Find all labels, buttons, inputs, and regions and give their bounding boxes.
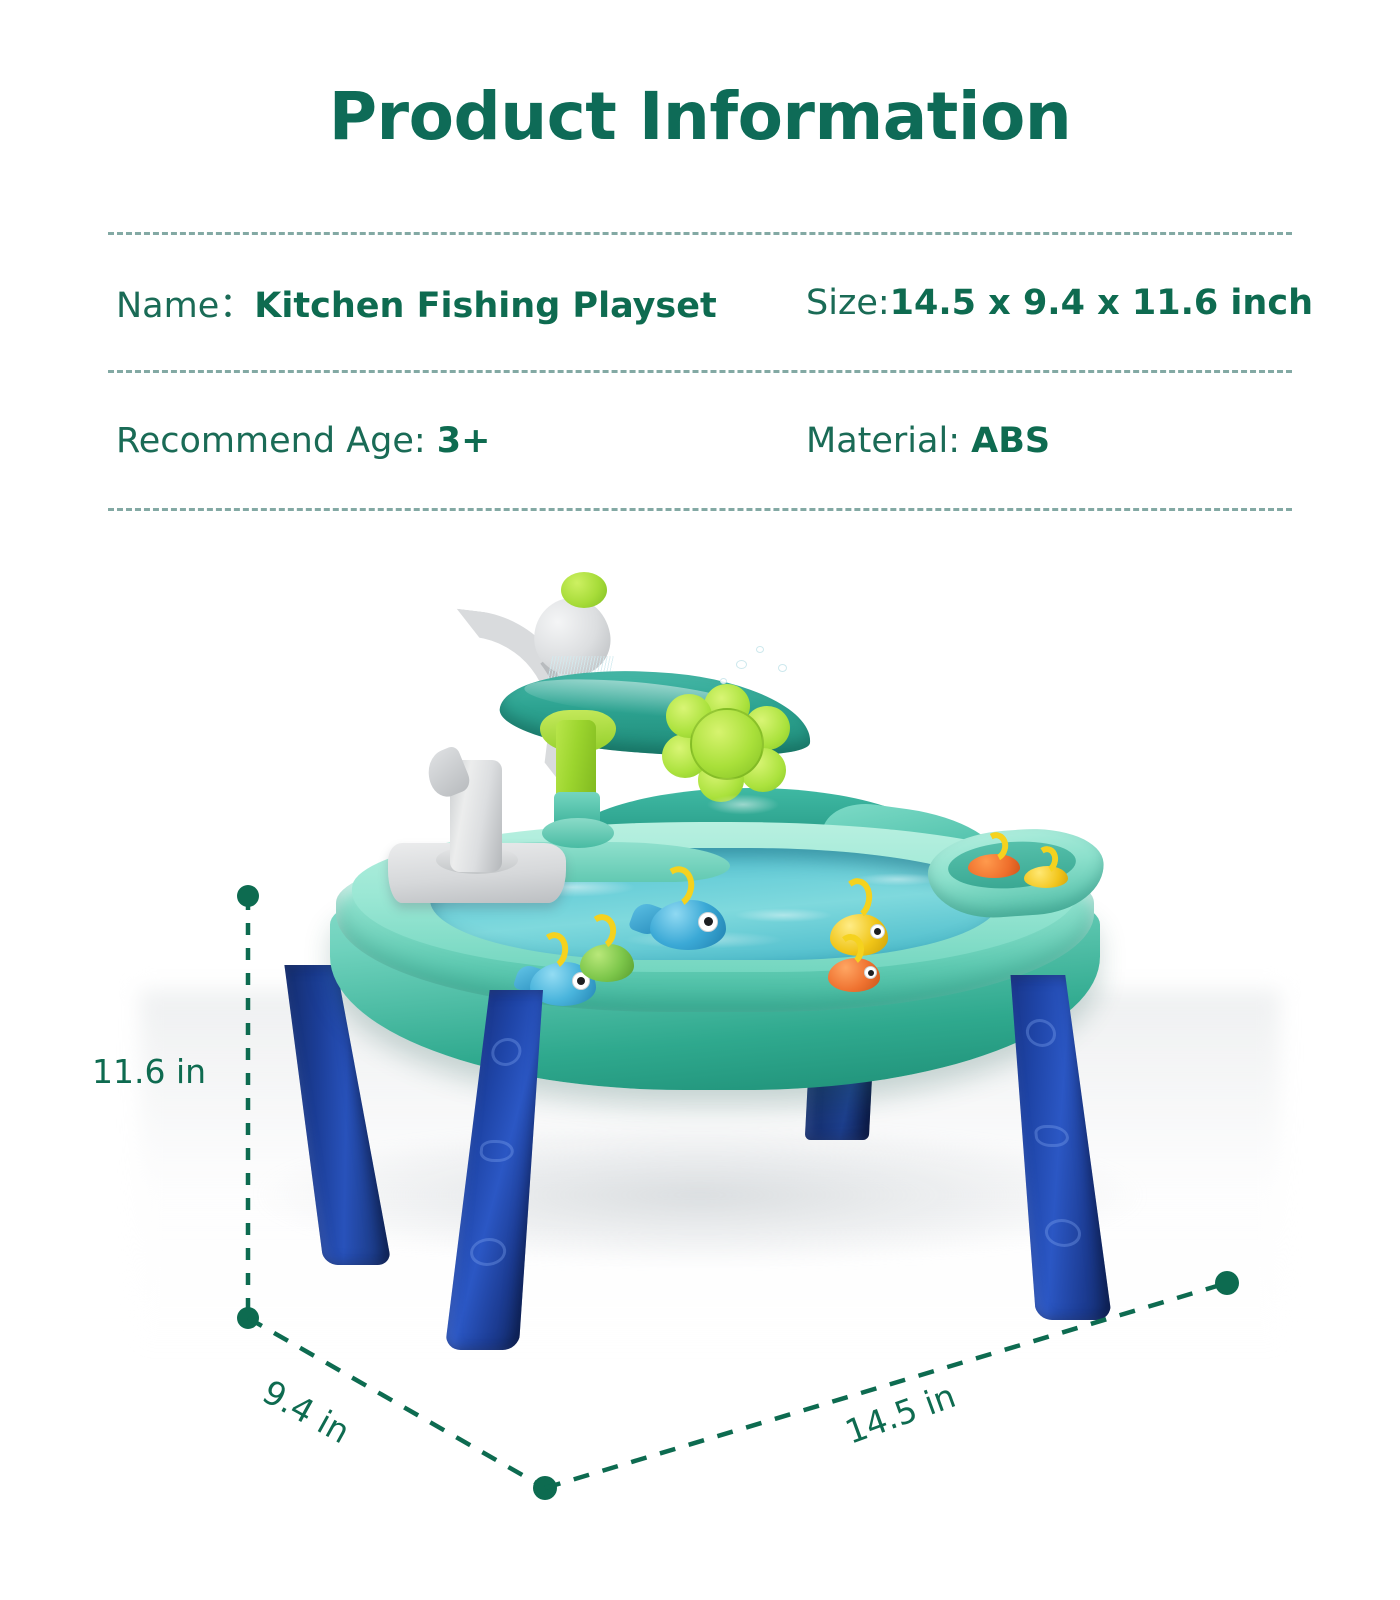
spec-value-name: Kitchen Fishing Playset	[254, 286, 716, 326]
fish-tray-yellow	[1024, 856, 1072, 888]
divider-bottom	[108, 508, 1292, 511]
fish-pupil	[868, 970, 874, 976]
spec-cell-material: Material: ABS	[798, 421, 1292, 461]
leg-emboss-turtle	[1044, 1219, 1083, 1247]
shower-knob[interactable]	[561, 572, 607, 608]
fish-blue-large	[636, 882, 732, 952]
spec-cell-size: Size: 14.5 x 9.4 x 11.6 inch	[798, 283, 1292, 323]
leg-emboss-clover	[1024, 1019, 1057, 1047]
fish-tray-orange	[968, 844, 1022, 878]
droplet	[720, 678, 727, 684]
leg-emboss-clover	[490, 1038, 523, 1066]
wheel-splash	[618, 706, 868, 818]
droplet	[778, 664, 787, 672]
leg-emboss-swirl	[1034, 1125, 1070, 1147]
spec-table: Name： Kitchen Fishing Playset Size: 14.5…	[108, 232, 1292, 511]
ground-shadow	[260, 1125, 1140, 1265]
droplet	[736, 660, 747, 669]
spec-value-size: 14.5 x 9.4 x 11.6 inch	[890, 283, 1313, 323]
fish-green	[572, 928, 642, 984]
spec-cell-name: Name： Kitchen Fishing Playset	[108, 277, 798, 328]
droplet	[756, 646, 764, 653]
fish-pupil	[704, 917, 713, 926]
spec-label-name: Name：	[116, 277, 254, 328]
leg-emboss-turtle	[469, 1238, 508, 1266]
spec-label-material: Material:	[806, 421, 971, 461]
spec-label-size: Size:	[806, 283, 890, 323]
spec-value-material: ABS	[971, 421, 1050, 461]
spec-row-1: Name： Kitchen Fishing Playset Size: 14.5…	[108, 235, 1292, 370]
fish-orange	[822, 946, 888, 994]
fish-body	[580, 944, 634, 982]
height-dim-label: 11.6 in	[92, 1052, 206, 1091]
product-information-page: Product Information Name： Kitchen Fishin…	[0, 0, 1400, 1600]
leg-emboss-swirl	[479, 1140, 515, 1162]
product-image	[0, 560, 1400, 1600]
spec-cell-age: Recommend Age: 3+	[108, 421, 798, 461]
spec-value-age: 3+	[437, 421, 491, 461]
stem-base	[542, 818, 614, 848]
spec-label-age: Recommend Age:	[116, 421, 437, 461]
page-title: Product Information	[0, 78, 1400, 155]
spec-row-2: Recommend Age: 3+ Material: ABS	[108, 373, 1292, 508]
fish-pupil	[874, 928, 881, 935]
